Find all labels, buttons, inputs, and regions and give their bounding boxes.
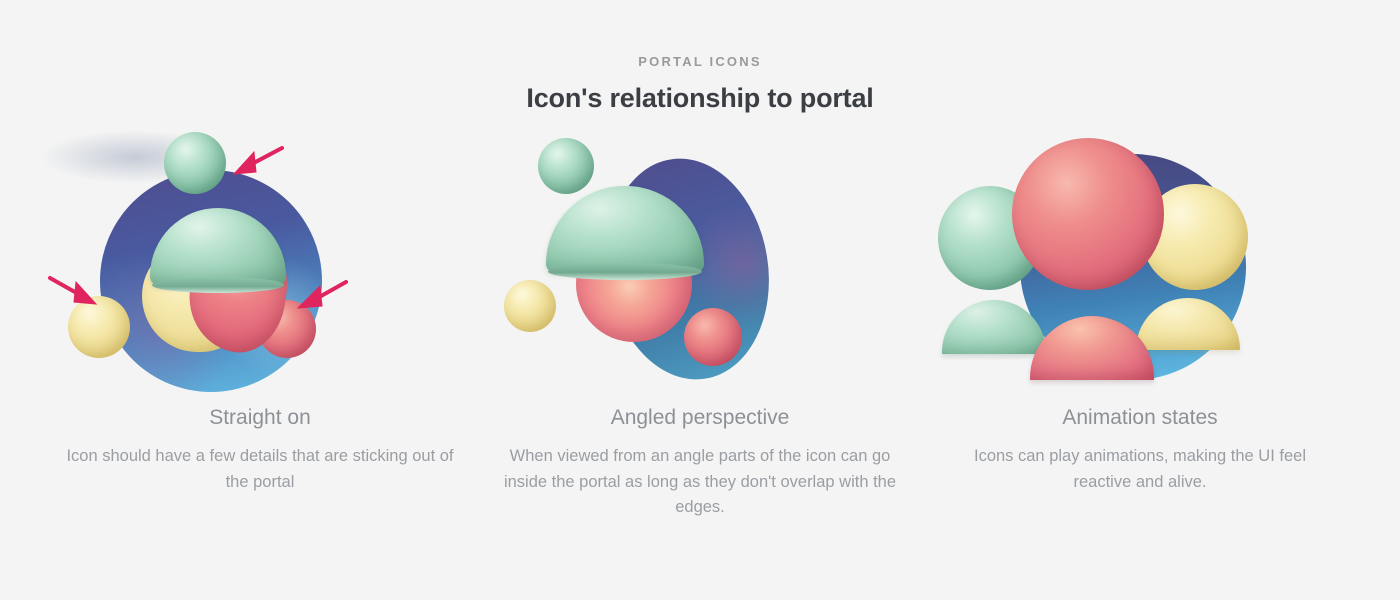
eyebrow-label: PORTAL ICONS [0,54,1400,70]
caption-body: Icon should have a few details that are … [40,444,480,495]
icon-green-dome [150,208,286,286]
page-header: PORTAL ICONS Icon's relationship to port… [0,0,1400,115]
yellow-sphere-left [504,280,556,332]
page-title: Icon's relationship to portal [0,82,1400,116]
caption-animation-states: Animation states Icons can play animatio… [920,405,1360,495]
panel-row: Straight on Icon should have a few detai… [0,130,1400,560]
caption-title: Straight on [40,405,480,430]
arrow-left-icon [46,272,102,312]
caption-angled-perspective: Angled perspective When viewed from an a… [480,405,920,521]
red-sphere-bottom-right [684,308,742,366]
green-sphere-top [164,132,226,194]
illustration-animation-states [920,130,1360,405]
illustration-straight-on [40,130,480,405]
caption-straight-on: Straight on Icon should have a few detai… [40,405,480,495]
arrow-right-icon [294,278,350,318]
page-root: PORTAL ICONS Icon's relationship to port… [0,0,1400,600]
caption-body: When viewed from an angle parts of the i… [480,444,920,521]
illustration-angled-perspective [480,130,920,405]
red-sphere [1012,138,1164,290]
caption-title: Angled perspective [480,405,920,430]
panel-straight-on: Straight on Icon should have a few detai… [40,130,480,560]
green-sphere-top-left [538,138,594,194]
panel-animation-states: Animation states Icons can play animatio… [920,130,1360,560]
arrow-top-right-icon [228,142,288,184]
caption-body: Icons can play animations, making the UI… [920,444,1360,495]
portal-icon-split-sphere [142,208,286,352]
caption-title: Animation states [920,405,1360,430]
panel-angled-perspective: Angled perspective When viewed from an a… [480,130,920,560]
